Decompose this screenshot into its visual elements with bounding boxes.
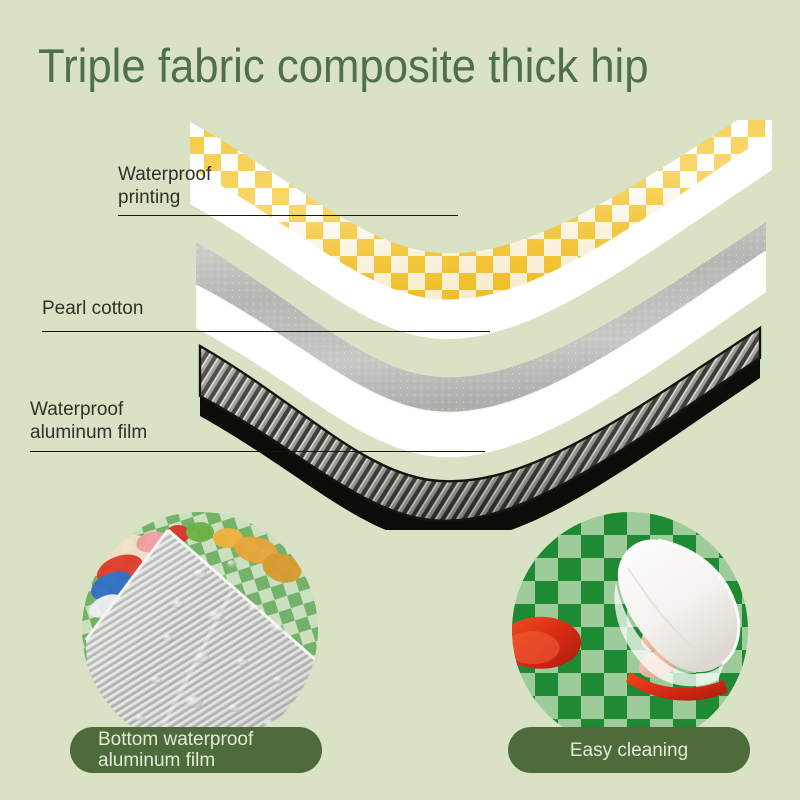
callout-label-aluminum-film: Waterproof aluminum film: [30, 398, 485, 444]
callout-label-pearl-cotton: Pearl cotton: [42, 297, 490, 320]
page-title: Triple fabric composite thick hip: [38, 38, 717, 94]
callout-leader-line: [118, 215, 458, 216]
caption-badge-label: Easy cleaning: [570, 740, 688, 761]
callout-leader-line: [42, 331, 490, 332]
caption-badge-label: Bottom waterproof aluminum film: [98, 729, 253, 771]
callout-leader-line: [30, 451, 485, 452]
caption-badge-bottom-waterproof: Bottom waterproof aluminum film: [70, 727, 322, 773]
infographic-canvas: Triple fabric composite thick hip: [0, 0, 800, 800]
callout-pearl-cotton: Pearl cotton: [42, 297, 490, 332]
callout-waterproof-aluminum-film: Waterproof aluminum film: [30, 398, 485, 452]
callout-waterproof-printing: Waterproof printing: [118, 163, 458, 216]
feature-photo-easy-cleaning: [512, 512, 748, 748]
feature-photo-bottom-waterproof: [82, 512, 318, 748]
callout-label-printing: Waterproof printing: [118, 163, 458, 209]
caption-badge-easy-cleaning: Easy cleaning: [508, 727, 750, 773]
